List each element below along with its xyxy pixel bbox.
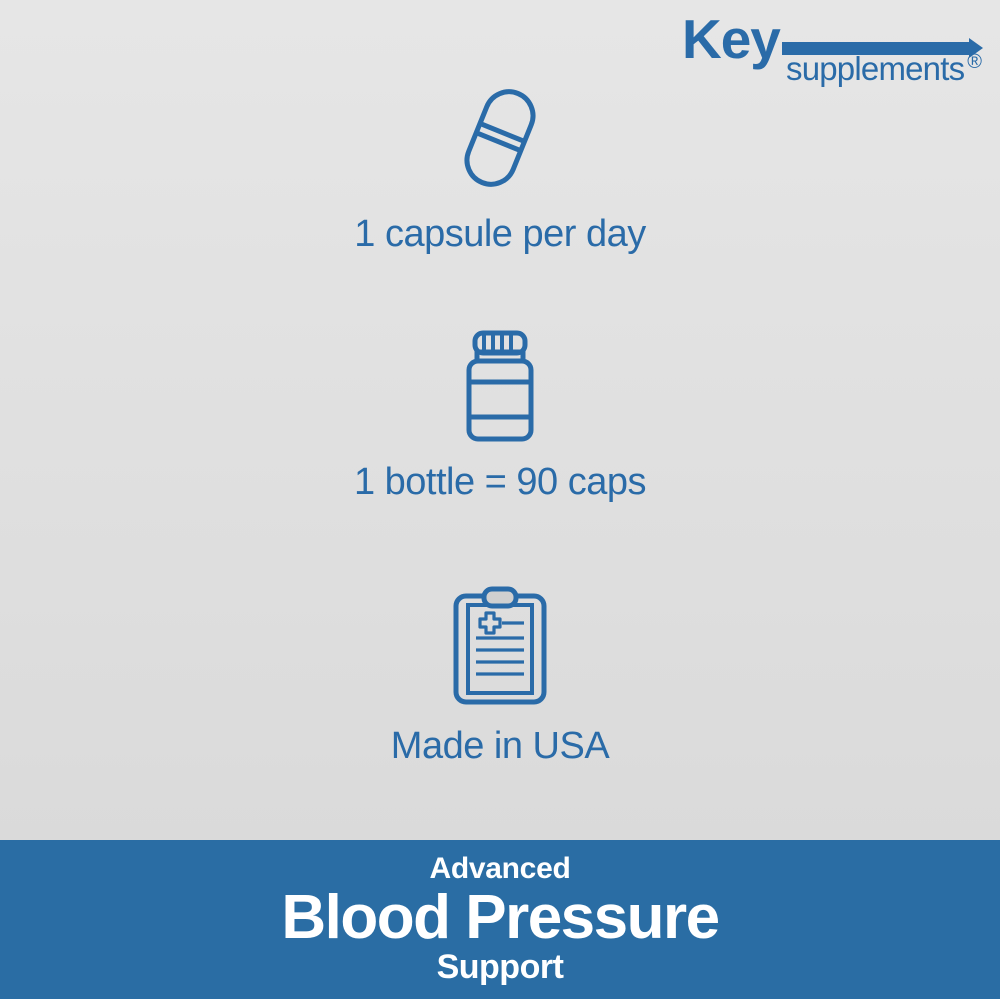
clipboard-medical-icon bbox=[0, 586, 1000, 715]
product-title-banner: Advanced Blood Pressure Support bbox=[0, 840, 1000, 999]
product-title-line-support: Support bbox=[437, 950, 564, 986]
feature-made-in-usa: Made in USA bbox=[0, 586, 1000, 768]
infographic-canvas: Key supplements ® 1 capsule per day bbox=[0, 0, 1000, 999]
product-title-line-main: Blood Pressure bbox=[281, 886, 718, 949]
capsule-icon bbox=[0, 78, 1000, 203]
feature-label-bottle: 1 bottle = 90 caps bbox=[0, 461, 1000, 504]
feature-label-capsule: 1 capsule per day bbox=[0, 213, 1000, 256]
supplement-bottle-icon bbox=[0, 326, 1000, 451]
feature-capsule-per-day: 1 capsule per day bbox=[0, 78, 1000, 256]
feature-label-usa: Made in USA bbox=[0, 725, 1000, 768]
product-title-line-advanced: Advanced bbox=[430, 853, 571, 885]
feature-bottle-count: 1 bottle = 90 caps bbox=[0, 326, 1000, 504]
registered-trademark-icon: ® bbox=[967, 52, 982, 72]
logo-wordmark-key: Key bbox=[682, 12, 780, 67]
